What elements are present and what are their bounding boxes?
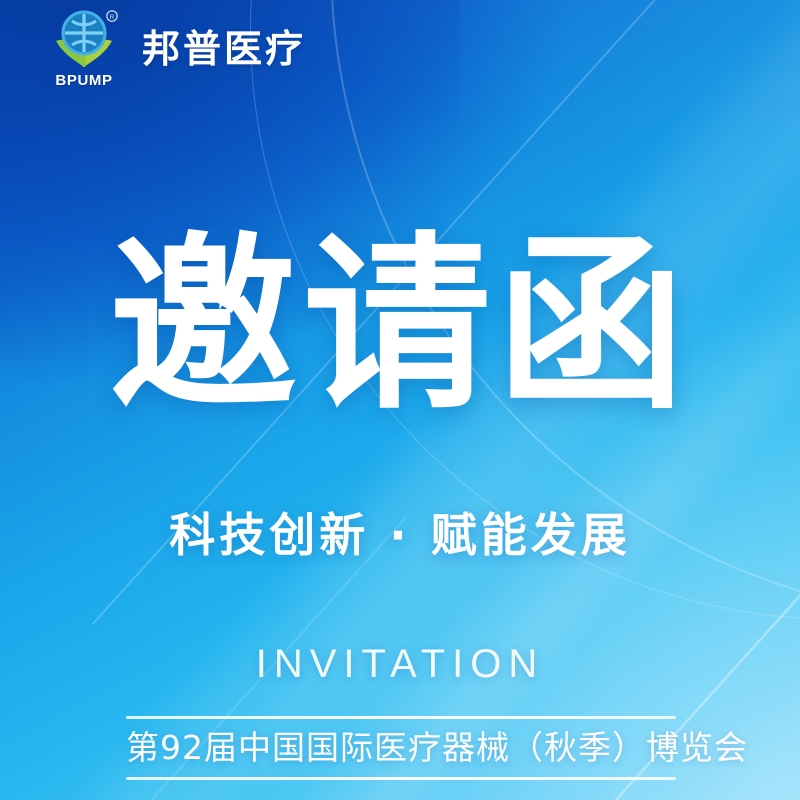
header-logo-bar: R BPUMP 邦普医疗 (0, 0, 800, 98)
footer-event-block: 第92届中国国际医疗器械（秋季）博览会 (126, 716, 676, 780)
footer-rule-top (126, 716, 676, 719)
logo-wordmark: BPUMP (46, 72, 122, 89)
brand-name: 邦普医疗 (142, 30, 306, 68)
page-title: 邀请函 (0, 232, 800, 420)
svg-text:R: R (110, 14, 115, 21)
invitation-english-label: INVITATION (0, 644, 800, 684)
poster-content: 邀请函 科技创新 · 赋能发展 INVITATION (0, 0, 800, 800)
poster-subtitle: 科技创新 · 赋能发展 (0, 508, 800, 563)
company-logo: R BPUMP (46, 9, 122, 89)
footer-rule-bottom (126, 777, 676, 780)
bpump-logo-icon: R (46, 9, 122, 71)
invitation-poster: R BPUMP 邦普医疗 邀请函 科技创新 · 赋能发展 INVITATION … (0, 0, 800, 800)
event-name: 第92届中国国际医疗器械（秋季）博览会 (126, 727, 676, 768)
